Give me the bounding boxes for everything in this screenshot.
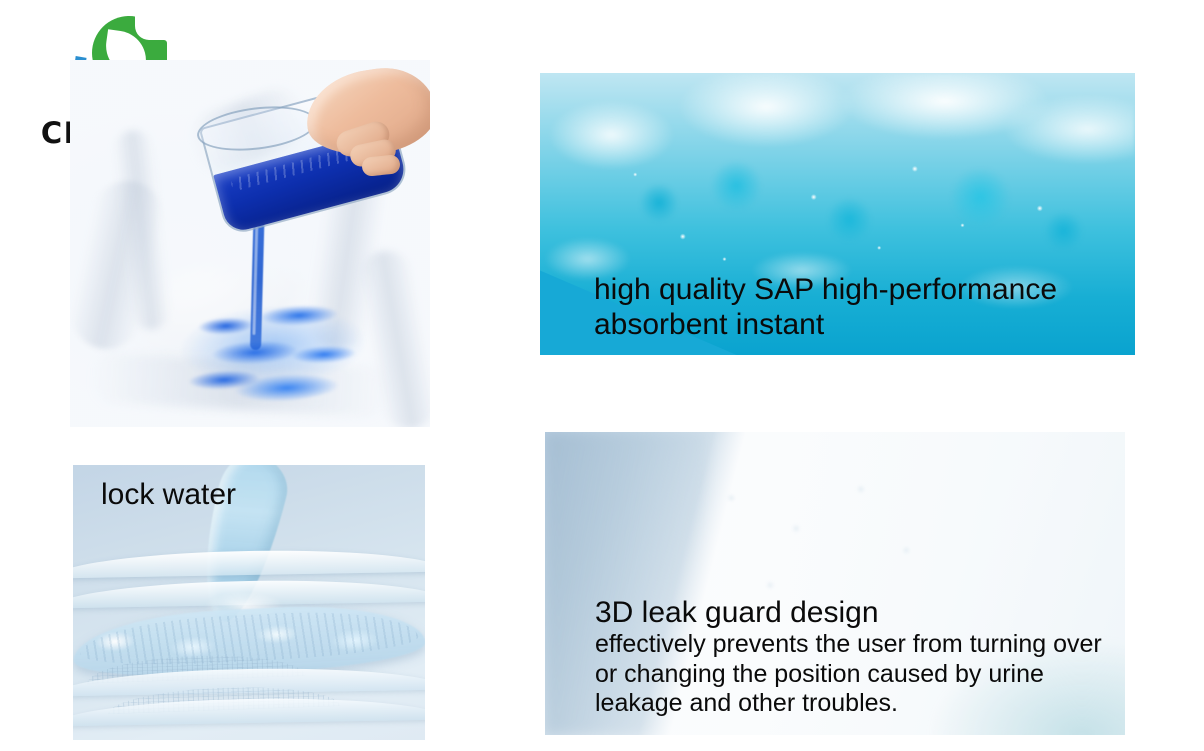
diaper-layer-sheet bbox=[73, 696, 425, 727]
body-leak-guard: effectively prevents the user from turni… bbox=[595, 630, 1102, 719]
heading-leak-guard: 3D leak guard design bbox=[595, 595, 879, 630]
caption-sap: high quality SAP high-performance absorb… bbox=[594, 272, 1057, 343]
logo-notch-shape bbox=[135, 16, 167, 40]
body-line-2: or changing the position caused by urine bbox=[595, 660, 1044, 688]
product-feature-board: CHUYANG Hygiene Materials rapid absorpti… bbox=[0, 0, 1204, 751]
panel-sap-absorbent: high quality SAP high-performance absorb… bbox=[540, 73, 1135, 355]
body-line-1: effectively prevents the user from turni… bbox=[595, 630, 1102, 658]
panel-lock-water: lock water bbox=[73, 465, 425, 740]
diaper-layer-sheet bbox=[73, 548, 425, 579]
body-line-3: leakage and other troubles. bbox=[595, 689, 898, 717]
panel-rapid-absorption: rapid absorption bbox=[70, 60, 430, 427]
caption-lock-water: lock water bbox=[101, 477, 236, 512]
panel-leak-guard: 3D leak guard design effectively prevent… bbox=[545, 432, 1125, 735]
